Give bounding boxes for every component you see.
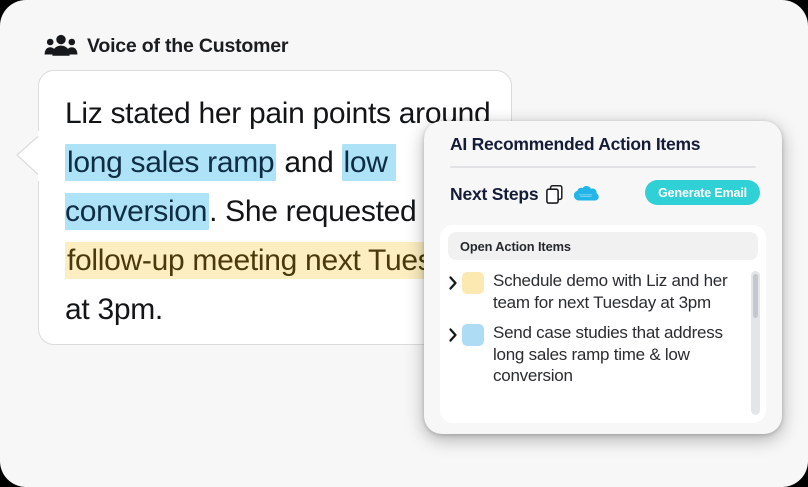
quote-segment: nd bbox=[301, 146, 342, 179]
ai-panel-title: AI Recommended Action Items bbox=[450, 134, 700, 155]
chevron-right-icon[interactable] bbox=[448, 324, 459, 346]
page-surface: Voice of the Customer Liz stated her pai… bbox=[0, 0, 808, 487]
next-steps-row: Next Steps Generate Email bbox=[450, 179, 760, 209]
quote-segment: . She requ bbox=[209, 195, 344, 228]
page-title: Voice of the Customer bbox=[87, 35, 288, 58]
open-action-items-label: Open Action Items bbox=[460, 239, 571, 254]
quote-segment: long sales ramp bbox=[65, 144, 276, 181]
chevron-right-icon[interactable] bbox=[448, 272, 459, 294]
open-action-items-card: Open Action Items Schedule demo with Liz… bbox=[440, 225, 766, 423]
copy-icon[interactable] bbox=[546, 185, 563, 204]
next-steps-label: Next Steps bbox=[450, 184, 538, 205]
open-action-items-header: Open Action Items bbox=[448, 232, 758, 260]
speech-bubble-tail bbox=[16, 131, 44, 181]
quote-segment: follow-up meeting next Tuesday bbox=[65, 242, 482, 279]
action-list-scrollbar[interactable] bbox=[751, 271, 760, 415]
list-item[interactable]: Schedule demo with Liz and her team for … bbox=[440, 267, 766, 319]
ai-recommended-action-items-panel: AI Recommended Action Items Next Steps G… bbox=[424, 121, 782, 434]
list-item[interactable]: Send case studies that address long sale… bbox=[440, 319, 766, 393]
voice-of-customer-header: Voice of the Customer bbox=[44, 34, 288, 58]
salesforce-cloud-logo bbox=[572, 185, 599, 204]
generate-email-button[interactable]: Generate Email bbox=[645, 180, 760, 205]
action-item-text: Send case studies that address long sale… bbox=[493, 322, 740, 387]
quote-segment: a bbox=[276, 146, 300, 179]
action-item-text: Schedule demo with Liz and her team for … bbox=[493, 270, 740, 313]
panel-divider bbox=[450, 166, 756, 168]
action-list-scrollbar-thumb[interactable] bbox=[753, 274, 758, 318]
action-items-list[interactable]: Schedule demo with Liz and her team for … bbox=[440, 267, 766, 423]
screenshot-root: Voice of the Customer Liz stated her pai… bbox=[0, 0, 808, 487]
people-group-icon bbox=[44, 34, 78, 58]
quote-segment: ested bbox=[345, 195, 425, 228]
action-item-color-swatch bbox=[462, 324, 484, 346]
action-item-color-swatch bbox=[462, 272, 484, 294]
